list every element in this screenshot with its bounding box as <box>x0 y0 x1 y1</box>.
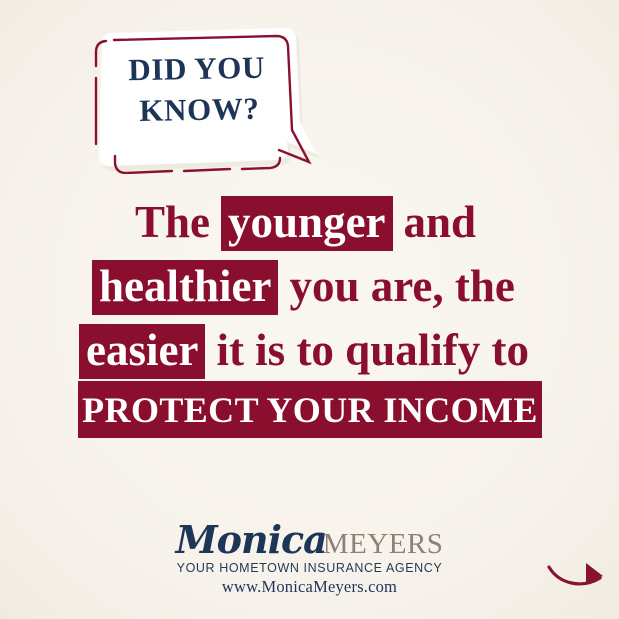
logo-tagline: YOUR HOMETOWN INSURANCE AGENCY <box>0 561 619 575</box>
headline-row-1: The younger and <box>0 196 619 251</box>
bubble-fill <box>99 28 317 166</box>
headline-row2-after: you are, the <box>289 264 514 309</box>
logo-block-name: MEYERS <box>323 528 444 560</box>
headline-row3-highlight: easier <box>79 324 205 379</box>
logo-website-url: www.MonicaMeyers.com <box>0 577 619 597</box>
poster-canvas: DID YOU KNOW? The younger and healthier … <box>0 0 619 619</box>
speech-bubble-shape <box>88 26 320 174</box>
headline-row1-before: The <box>135 200 210 245</box>
headline-row1-after: and <box>404 200 477 245</box>
curved-arrow-right-icon <box>546 556 612 596</box>
curved-arrow-right-icon-shape <box>546 556 612 596</box>
headline-row2-highlight: healthier <box>92 260 278 315</box>
banner-text: PROTECT YOUR INCOME <box>82 389 538 431</box>
headline-row1-highlight: younger <box>221 196 393 251</box>
logo-script-name: Monica <box>176 517 327 562</box>
logo-lockup: MonicaMEYERS <box>0 520 619 560</box>
headline-block: The younger and healthier you are, the e… <box>0 196 619 379</box>
headline-row-3: easier it is to qualify to <box>0 324 619 379</box>
headline-row3-after: it is to qualify to <box>216 328 529 373</box>
did-you-know-bubble: DID YOU KNOW? <box>88 26 320 174</box>
headline-row-2: healthier you are, the <box>0 260 619 315</box>
protect-your-income-banner: PROTECT YOUR INCOME <box>78 381 542 438</box>
logo-block: MonicaMEYERS YOUR HOMETOWN INSURANCE AGE… <box>0 520 619 597</box>
